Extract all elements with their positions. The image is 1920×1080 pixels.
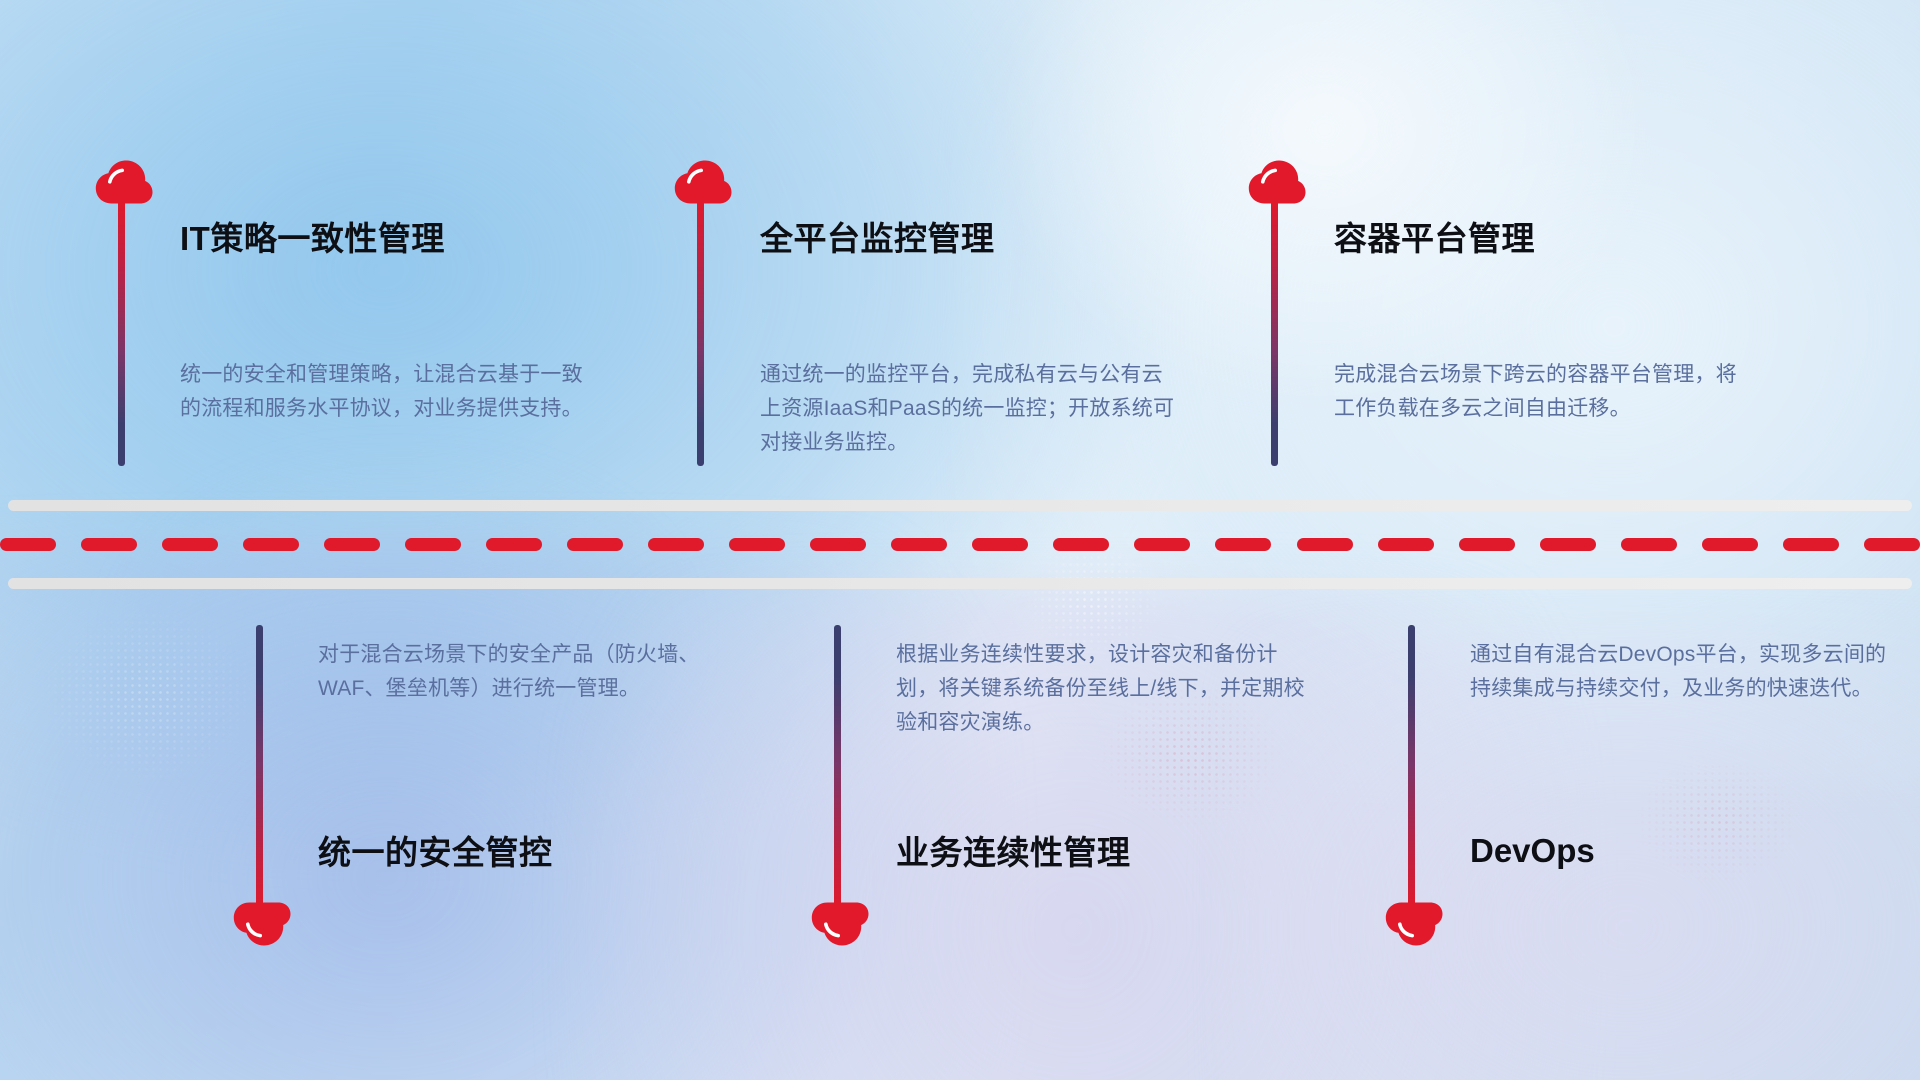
divider-dash-segment	[243, 538, 299, 551]
divider-dash-segment	[1378, 538, 1434, 551]
connector-stem	[1271, 198, 1278, 466]
topic-description: 对于混合云场景下的安全产品（防火墙、WAF、堡垒机等）进行统一管理。	[318, 638, 738, 706]
topic-title: 全平台监控管理	[760, 222, 995, 255]
divider-dash-segment	[1864, 538, 1920, 551]
cloud-icon	[674, 160, 732, 204]
divider-dash-segment	[810, 538, 866, 551]
divider-dash-segment	[405, 538, 461, 551]
divider-dash-segment	[1621, 538, 1677, 551]
divider-dash-segment	[972, 538, 1028, 551]
divider-dash-segment	[162, 538, 218, 551]
cloud-icon	[1248, 160, 1306, 204]
divider-dash-segment	[729, 538, 785, 551]
speckle-cluster-d	[38, 605, 258, 785]
cloud-icon	[95, 160, 153, 204]
divider-dash-segment	[567, 538, 623, 551]
divider-bar-top	[8, 500, 1912, 511]
divider-dash-segment	[81, 538, 137, 551]
topic-description: 根据业务连续性要求，设计容灾和备份计划，将关键系统备份至线上/线下，并定期校验和…	[896, 638, 1316, 740]
divider-bar-bottom	[8, 578, 1912, 589]
divider-dash-segment	[648, 538, 704, 551]
topic-title: IT策略一致性管理	[180, 222, 445, 255]
divider-dash-segment	[1134, 538, 1190, 551]
divider-dash-segment	[1459, 538, 1515, 551]
section-divider	[0, 490, 1920, 600]
divider-dashed-line	[0, 537, 1920, 551]
topic-title: 统一的安全管控	[318, 836, 553, 869]
divider-dash-segment	[1297, 538, 1353, 551]
divider-dash-segment	[0, 538, 56, 551]
topic-description: 统一的安全和管理策略，让混合云基于一致的流程和服务水平协议，对业务提供支持。	[180, 358, 600, 426]
cloud-icon-flipped	[1385, 902, 1443, 946]
topic-description: 通过自有混合云DevOps平台，实现多云间的持续集成与持续交付，及业务的快速迭代…	[1470, 638, 1890, 706]
divider-dash-segment	[1215, 538, 1271, 551]
divider-dash-segment	[1702, 538, 1758, 551]
divider-dash-segment	[486, 538, 542, 551]
divider-dash-segment	[1783, 538, 1839, 551]
topic-title: DevOps	[1470, 834, 1595, 867]
topic-description: 完成混合云场景下跨云的容器平台管理，将工作负载在多云之间自由迁移。	[1334, 358, 1754, 426]
connector-stem	[118, 198, 125, 466]
background-highlight-top	[998, 0, 1651, 410]
cloud-icon-flipped	[811, 902, 869, 946]
divider-dash-segment	[324, 538, 380, 551]
cloud-icon-flipped	[233, 902, 291, 946]
connector-stem	[1408, 625, 1415, 915]
topic-title: 业务连续性管理	[896, 836, 1131, 869]
divider-dash-segment	[891, 538, 947, 551]
infographic-canvas: IT策略一致性管理 统一的安全和管理策略，让混合云基于一致的流程和服务水平协议，…	[0, 0, 1920, 1080]
topic-description: 通过统一的监控平台，完成私有云与公有云上资源IaaS和PaaS的统一监控；开放系…	[760, 358, 1180, 460]
connector-stem	[256, 625, 263, 915]
connector-stem	[834, 625, 841, 915]
divider-dash-segment	[1540, 538, 1596, 551]
topic-title: 容器平台管理	[1334, 222, 1535, 255]
connector-stem	[697, 198, 704, 466]
speckle-cluster-c	[1632, 756, 1802, 886]
divider-dash-segment	[1053, 538, 1109, 551]
